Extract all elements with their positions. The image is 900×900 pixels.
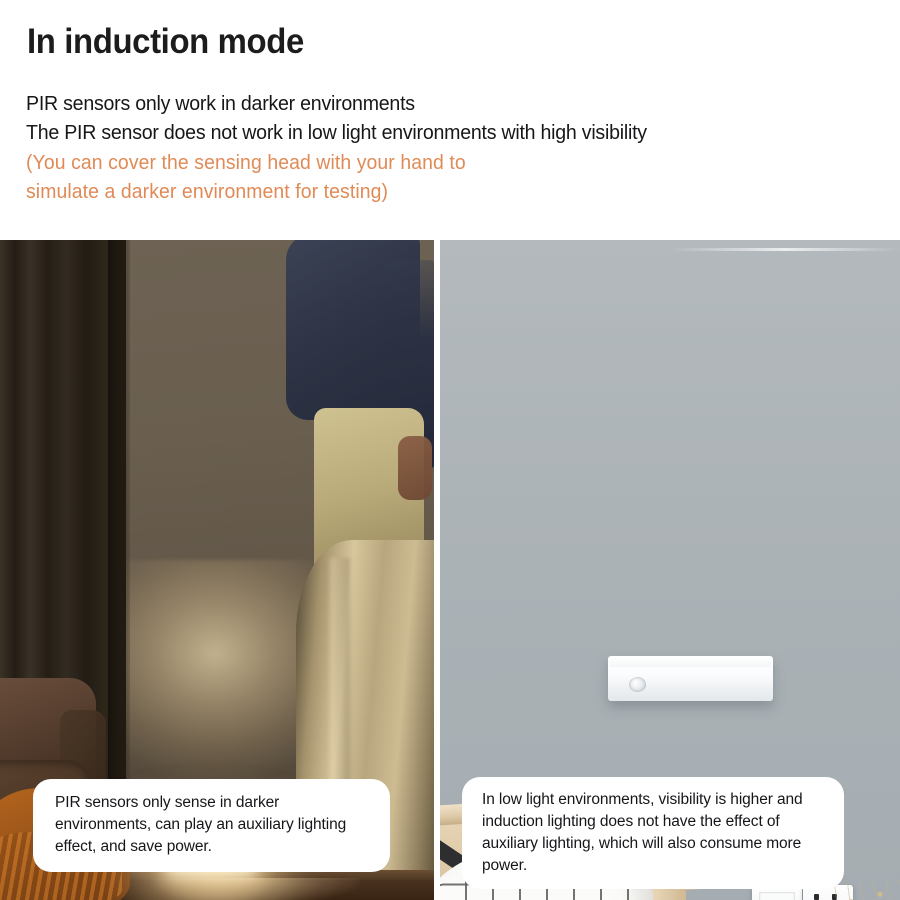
note-line-1: (You can cover the sensing head with you…	[26, 149, 849, 178]
caption-lit-room-text: In low light environments, visibility is…	[482, 789, 828, 877]
note-line-2: simulate a darker environment for testin…	[26, 178, 849, 207]
caption-dark-room-text: PIR sensors only sense in darker environ…	[55, 792, 372, 858]
light-bar-top-edge	[610, 658, 771, 667]
socket-hole-left	[814, 894, 819, 900]
note-block: (You can cover the sensing head with you…	[26, 149, 874, 207]
product-info-graphic: In induction mode PIR sensors only work …	[0, 0, 900, 900]
description-block: PIR sensors only work in darker environm…	[26, 89, 874, 147]
description-line-2: The PIR sensor does not work in low ligh…	[26, 118, 836, 147]
page-title: In induction mode	[27, 22, 823, 61]
pir-sensor-icon	[629, 677, 646, 692]
switch-rocker	[759, 892, 795, 900]
curtain-edge	[108, 240, 130, 840]
description-line-1: PIR sensors only work in darker environm…	[26, 89, 836, 118]
caption-lit-room: In low light environments, visibility is…	[462, 777, 844, 889]
person-hand	[398, 436, 432, 500]
caption-dark-room: PIR sensors only sense in darker environ…	[33, 779, 390, 872]
ceiling-molding	[670, 248, 900, 251]
header-text-block: In induction mode PIR sensors only work …	[0, 0, 900, 240]
